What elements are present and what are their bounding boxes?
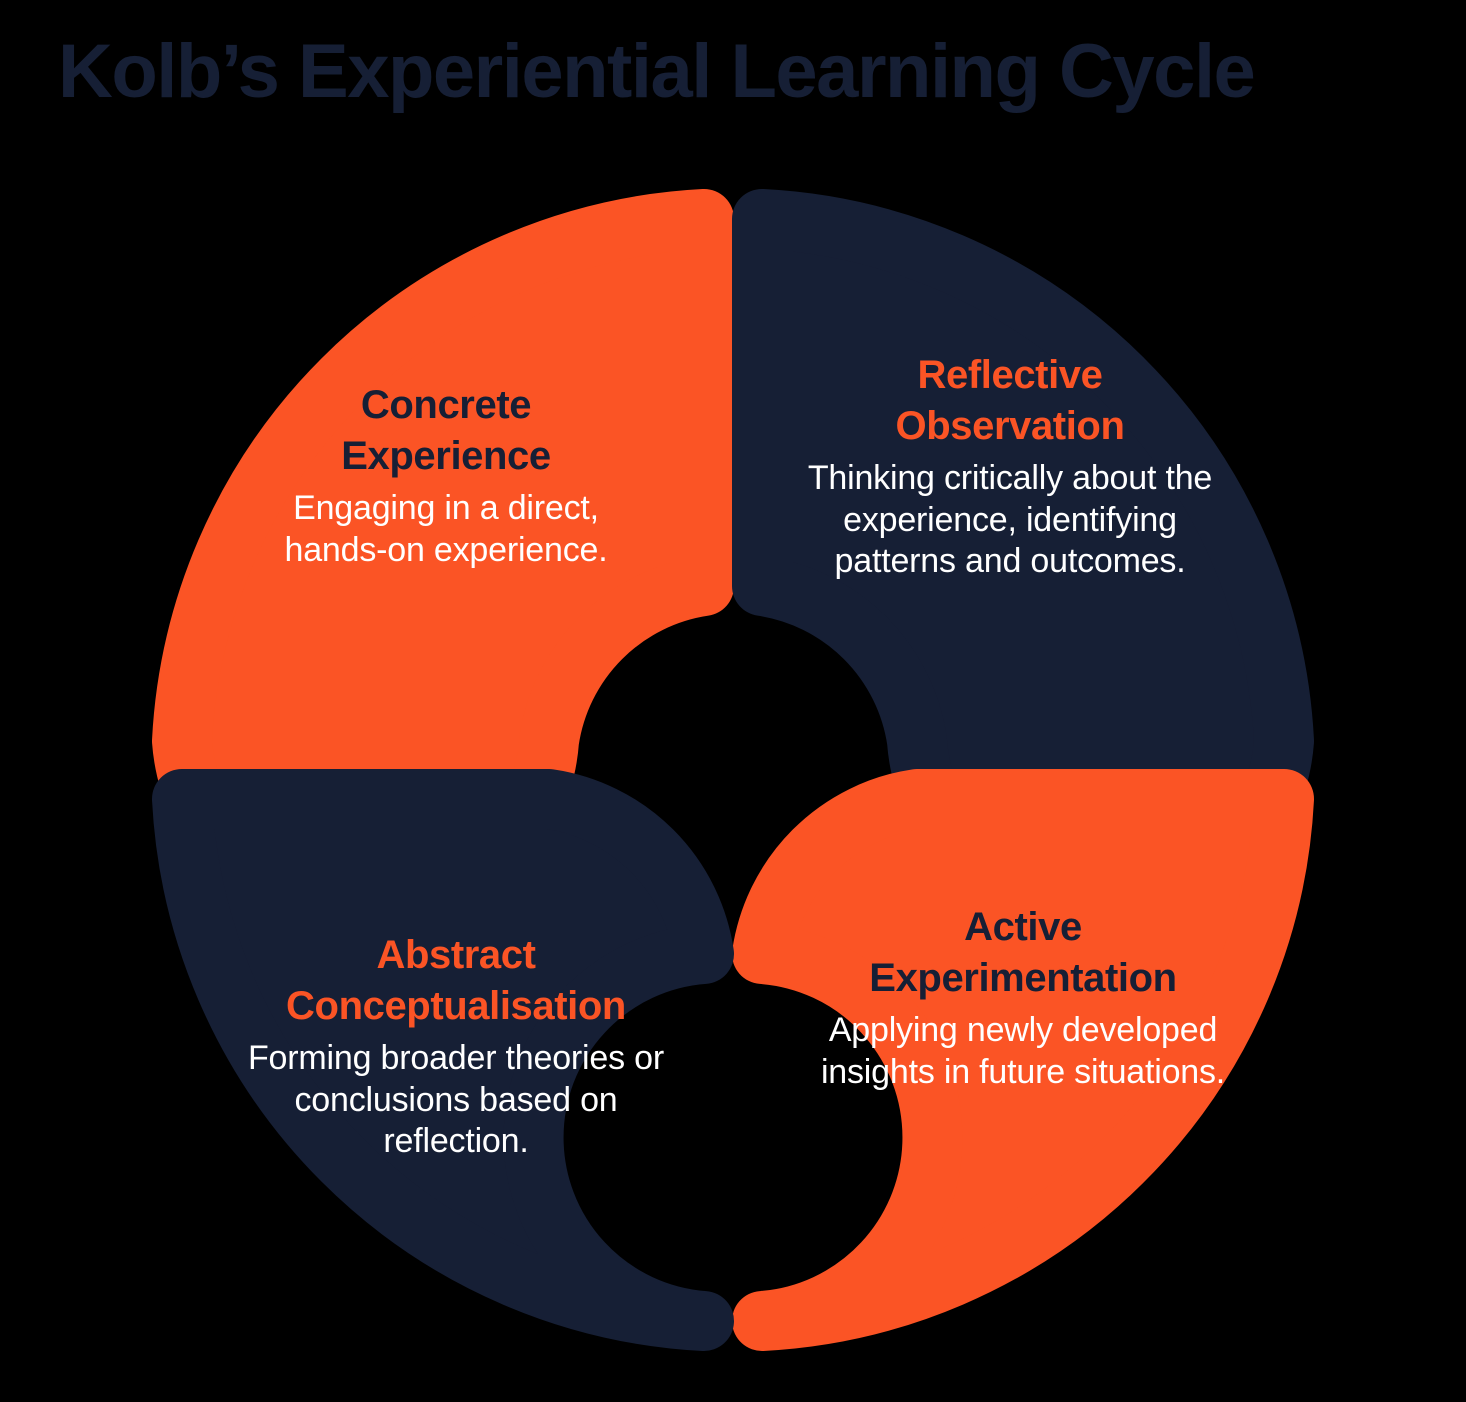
quadrant-title-line1: Concrete bbox=[361, 383, 531, 427]
quadrant-title-active-experimentation: Active Experimentation bbox=[808, 902, 1238, 1004]
quadrant-title-concrete-experience: Concrete Experience bbox=[246, 380, 646, 482]
quadrant-body-reflective-observation: Thinking critically about the experience… bbox=[800, 458, 1220, 582]
quadrant-body-active-experimentation: Applying newly developed insights in fut… bbox=[808, 1010, 1238, 1093]
quadrant-title-line1: Abstract bbox=[376, 933, 535, 977]
quadrant-title-line2: Experimentation bbox=[869, 956, 1176, 1000]
quadrant-label-reflective-observation: Reflective Observation Thinking critical… bbox=[800, 350, 1220, 583]
quadrant-title-line2: Conceptualisation bbox=[286, 984, 626, 1028]
quadrant-title-reflective-observation: Reflective Observation bbox=[800, 350, 1220, 452]
cycle-donut-chart bbox=[0, 0, 1466, 1402]
quadrant-body-concrete-experience: Engaging in a direct, hands-on experienc… bbox=[246, 488, 646, 571]
quadrant-title-line2: Observation bbox=[896, 404, 1125, 448]
quadrant-label-abstract-conceptualisation: Abstract Conceptualisation Forming broad… bbox=[236, 930, 676, 1163]
quadrant-title-line2: Experience bbox=[341, 434, 550, 478]
quadrant-title-abstract-conceptualisation: Abstract Conceptualisation bbox=[236, 930, 676, 1032]
quadrant-title-line1: Active bbox=[964, 905, 1082, 949]
quadrant-body-abstract-conceptualisation: Forming broader theories or conclusions … bbox=[236, 1038, 676, 1162]
quadrant-label-concrete-experience: Concrete Experience Engaging in a direct… bbox=[246, 380, 646, 571]
quadrant-title-line1: Reflective bbox=[918, 353, 1103, 397]
quadrant-label-active-experimentation: Active Experimentation Applying newly de… bbox=[808, 902, 1238, 1093]
diagram-canvas: Kolb’s Experiential Learning Cycle Concr… bbox=[0, 0, 1466, 1402]
